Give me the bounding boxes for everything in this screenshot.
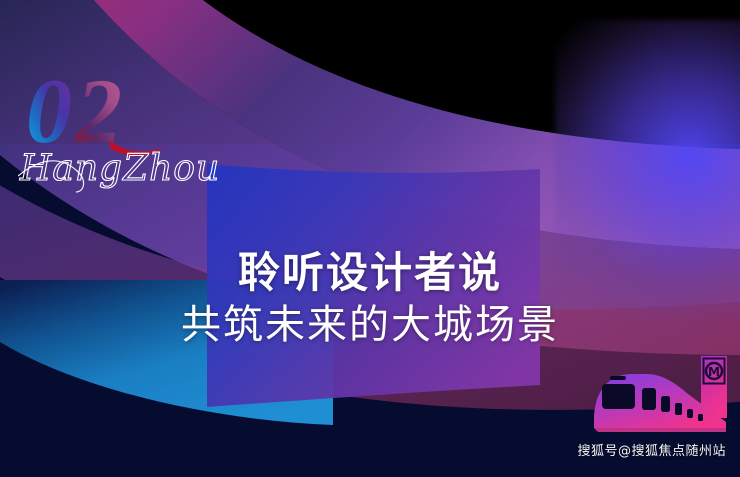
badge-number-two: 2	[74, 60, 122, 162]
background-arcs	[0, 0, 740, 477]
headline-main-line: 聆听设计者说	[0, 248, 740, 298]
episode-badge: 0 2 HangZhou	[18, 58, 218, 193]
metro-logo-circle	[706, 363, 722, 379]
script-flourish	[18, 161, 84, 192]
red-swash-accent	[110, 140, 164, 156]
source-watermark: 搜狐号@搜狐焦点随州站	[577, 440, 726, 459]
badge-number-zero: 0	[26, 60, 72, 162]
train-body	[594, 374, 726, 432]
metro-train-illustration: M	[588, 352, 740, 448]
station-sign: M	[701, 356, 727, 418]
poster-canvas: 0 2 HangZhou 聆听设计者说 共筑未来的大城场景	[0, 0, 740, 477]
badge-city-script: HangZhou	[19, 148, 218, 189]
metro-logo-letter: M	[708, 365, 720, 379]
headline-block: 聆听设计者说 共筑未来的大城场景	[0, 248, 740, 352]
headline-sub-line: 共筑未来的大城场景	[0, 298, 740, 352]
